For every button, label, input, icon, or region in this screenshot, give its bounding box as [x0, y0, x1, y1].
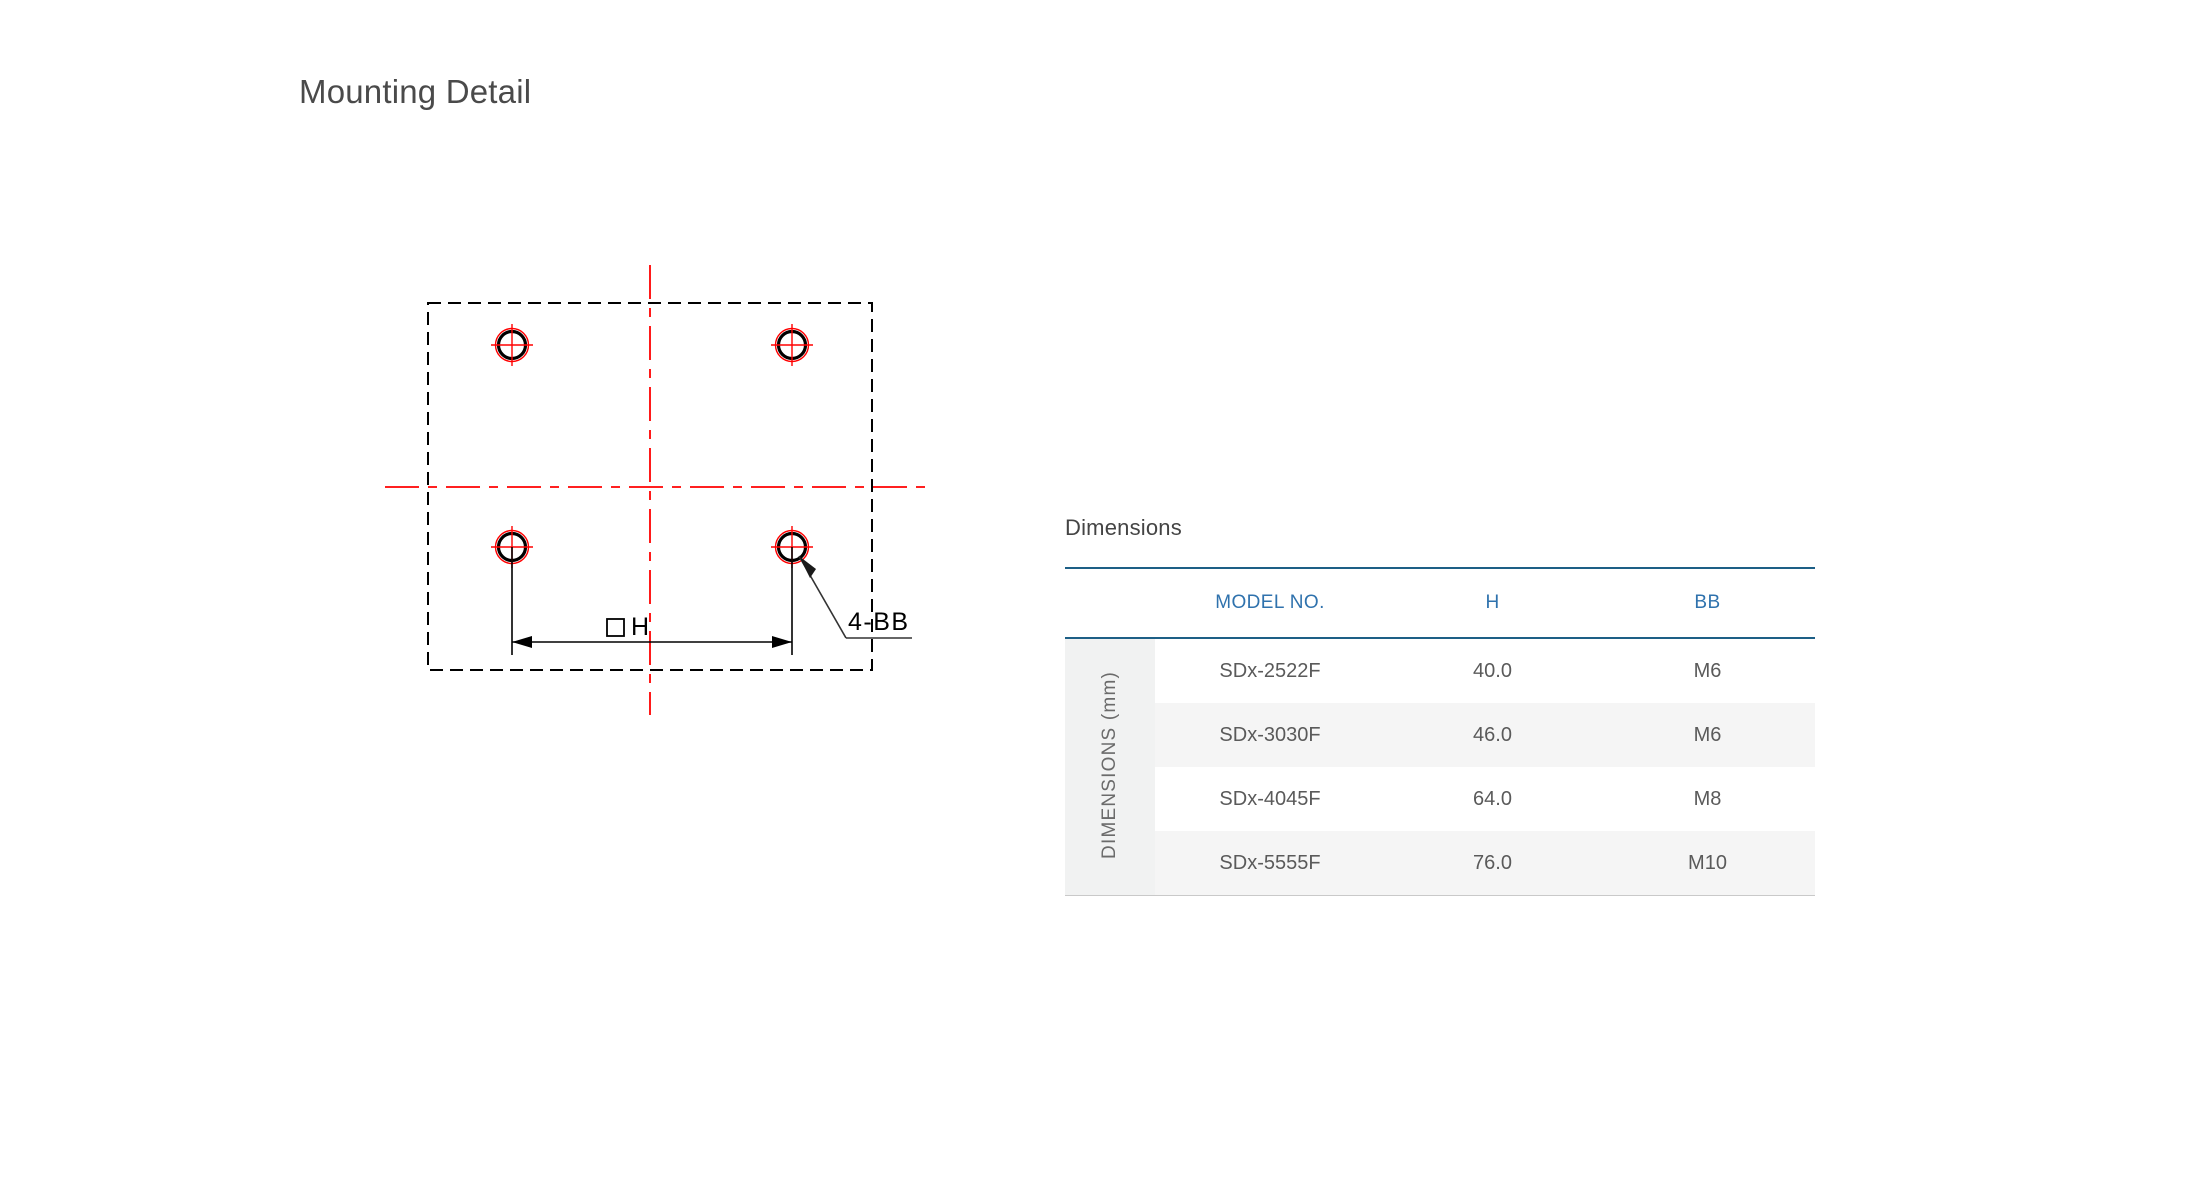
page-title: Mounting Detail: [299, 73, 531, 111]
cell-bb: M6: [1600, 638, 1815, 703]
hole-callout-label: 4-BB: [848, 608, 910, 636]
cell-model: SDx-3030F: [1155, 703, 1385, 767]
mounting-hole-top-left: [491, 324, 533, 366]
table-header-row: MODEL NO. H BB: [1065, 568, 1815, 638]
arrowhead-right-icon: [772, 636, 792, 648]
side-label-text: DIMENSIONS (mm): [1099, 671, 1121, 859]
cell-bb: M6: [1600, 703, 1815, 767]
mounting-detail-drawing: H 4-BB: [340, 230, 1000, 790]
table-corner-cell: [1065, 568, 1155, 638]
dimensions-section: Dimensions MODEL NO. H BB DIMENSIONS (mm…: [1065, 515, 1825, 896]
dimensions-table: MODEL NO. H BB DIMENSIONS (mm) SDx-2522F…: [1065, 567, 1815, 896]
table-row: SDx-3030F 46.0 M6: [1065, 703, 1815, 767]
dimensions-heading: Dimensions: [1065, 515, 1825, 541]
table-row: SDx-4045F 64.0 M8: [1065, 767, 1815, 831]
mounting-hole-top-right: [771, 324, 813, 366]
cell-model: SDx-4045F: [1155, 767, 1385, 831]
column-header-bb: BB: [1600, 568, 1815, 638]
dimension-label-h: H: [631, 613, 649, 641]
cell-h: 46.0: [1385, 703, 1600, 767]
cell-h: 76.0: [1385, 831, 1600, 896]
cell-model: SDx-2522F: [1155, 638, 1385, 703]
column-header-model: MODEL NO.: [1155, 568, 1385, 638]
table-row: DIMENSIONS (mm) SDx-2522F 40.0 M6: [1065, 638, 1815, 703]
drawing-svg: H 4-BB: [340, 230, 1000, 790]
leader-arrowhead-icon: [799, 556, 816, 578]
table-row: SDx-5555F 76.0 M10: [1065, 831, 1815, 896]
arrowhead-left-icon: [512, 636, 532, 648]
cell-bb: M8: [1600, 767, 1815, 831]
cell-model: SDx-5555F: [1155, 831, 1385, 896]
cell-h: 40.0: [1385, 638, 1600, 703]
side-label-cell: DIMENSIONS (mm): [1065, 638, 1155, 896]
cell-h: 64.0: [1385, 767, 1600, 831]
column-header-h: H: [1385, 568, 1600, 638]
cell-bb: M10: [1600, 831, 1815, 896]
square-symbol-icon: [607, 619, 624, 636]
